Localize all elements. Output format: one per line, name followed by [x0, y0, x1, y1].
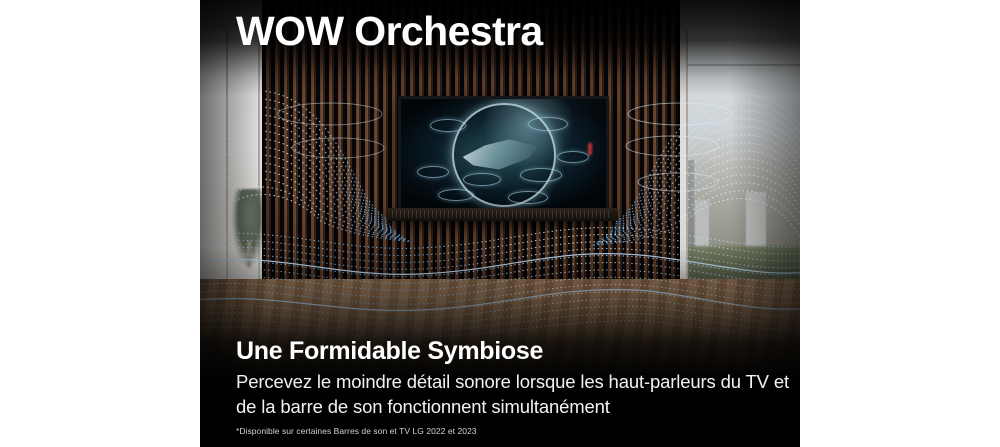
subheading: Une Formidable Symbiose — [236, 337, 543, 366]
soundbar — [386, 208, 618, 221]
body-copy: Percevez le moindre détail sonore lorsqu… — [236, 370, 800, 419]
audio-ripple — [557, 151, 589, 163]
audio-ripple — [430, 119, 466, 132]
audio-ripple — [463, 173, 501, 186]
audio-ripple — [528, 117, 568, 131]
audio-ripple — [438, 189, 474, 201]
audio-ripple — [508, 191, 548, 204]
audio-ripple — [417, 166, 449, 178]
hero-image: WOW Orchestra Une Formidable Symbiose Pe… — [200, 0, 800, 447]
page-title: WOW Orchestra — [236, 8, 543, 55]
tv-accent-light — [588, 143, 592, 155]
banner-stage: WOW Orchestra Une Formidable Symbiose Pe… — [0, 0, 1000, 447]
tv-scene-content — [401, 99, 606, 211]
footnote-disclaimer: *Disponible sur certaines Barres de son … — [236, 426, 477, 436]
tv-display — [398, 96, 609, 214]
